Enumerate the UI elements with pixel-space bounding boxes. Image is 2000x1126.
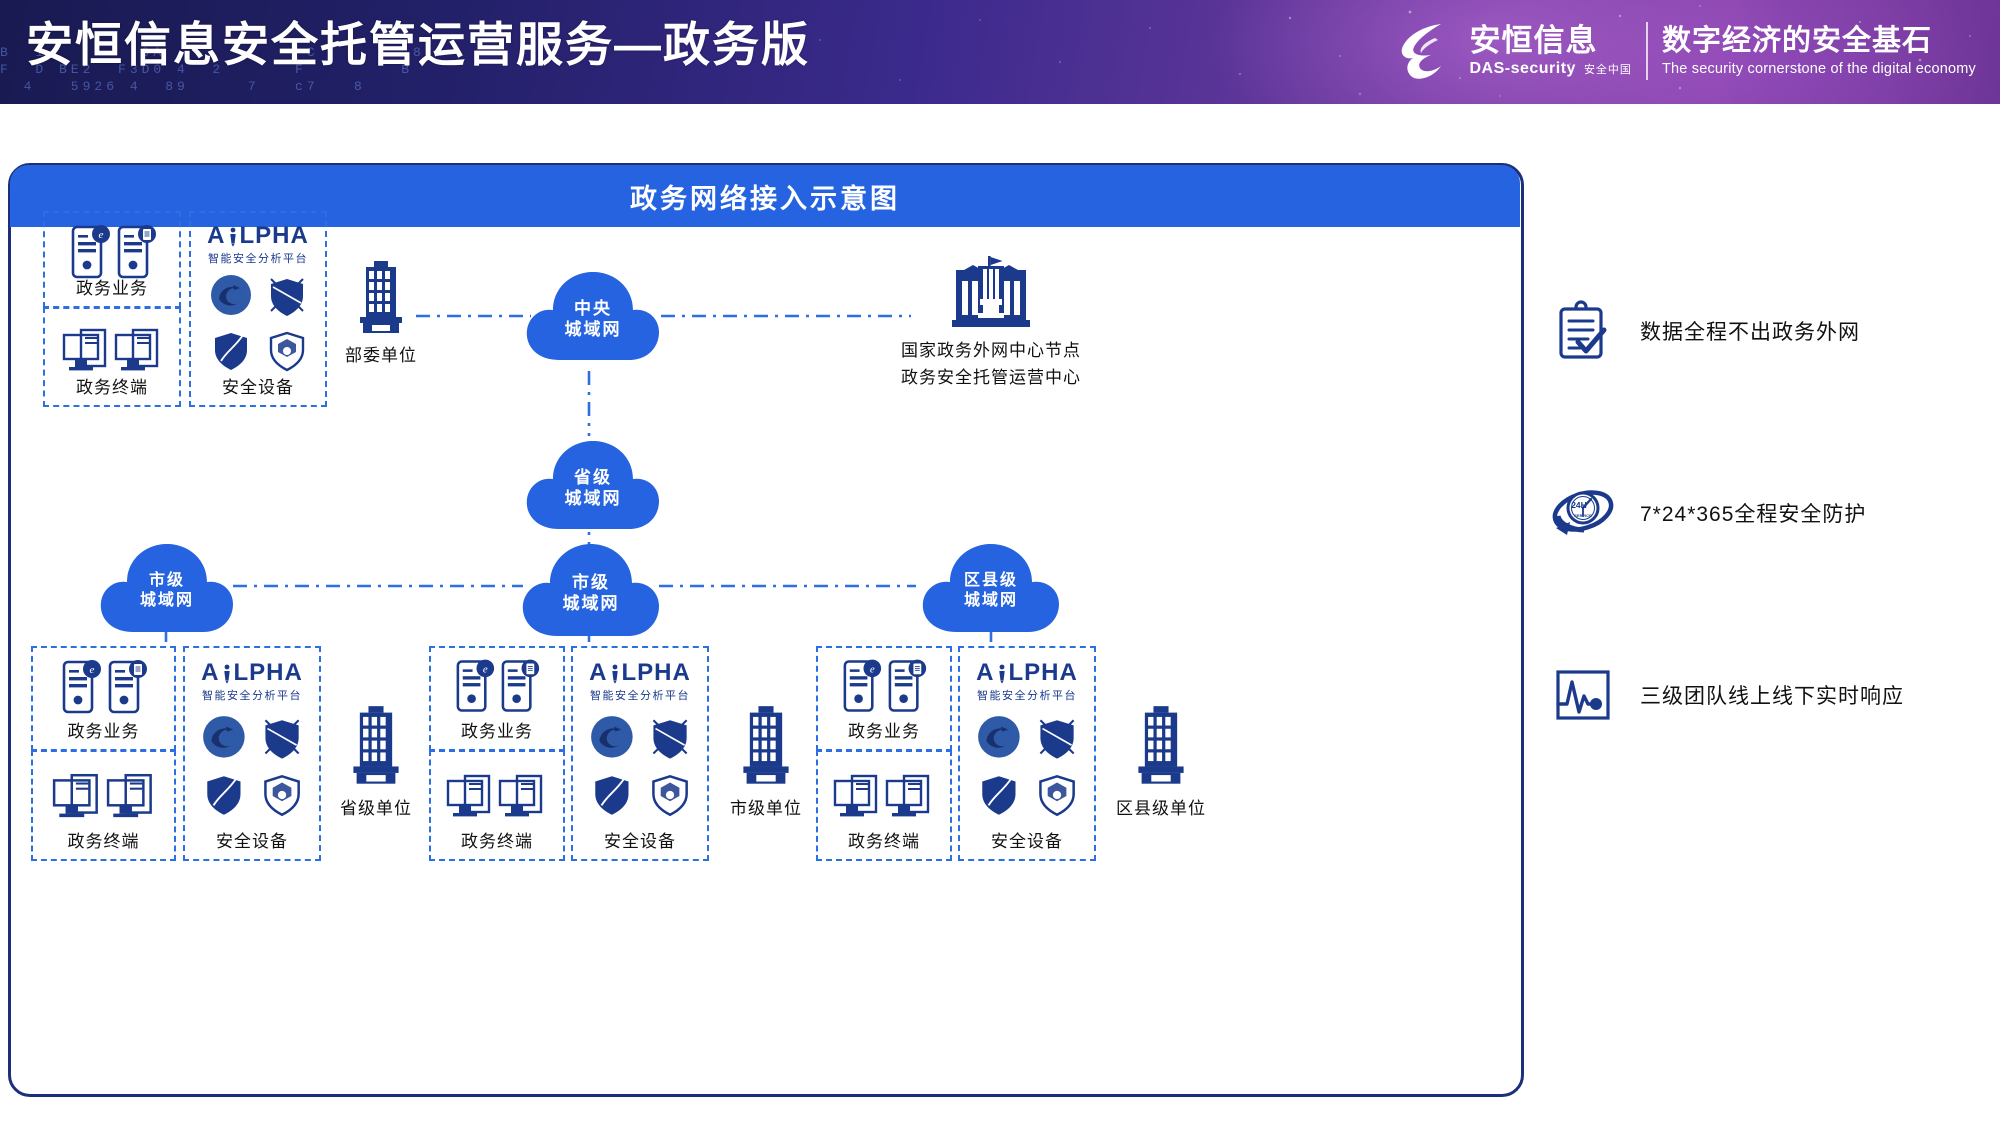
brand-slogan-cn: 数字经济的安全基石: [1662, 25, 1976, 57]
server-pair-icon: e: [67, 223, 163, 281]
desktop-pair-icon: [832, 772, 938, 822]
group-security-device-top: ALPHA 智能安全分析平台: [189, 211, 327, 407]
feature-list: 数据全程不出政务外网 24H SERVICE 7*24*365全程安全防护: [1552, 300, 1992, 846]
alpha-word-left: A: [589, 659, 607, 686]
feature-item-data-stays-in-network: 数据全程不出政务外网: [1552, 300, 1992, 362]
alpha-word-right: LPHA: [1009, 659, 1078, 686]
eagle-wave-icon: [211, 275, 251, 315]
group-label-security-device: 安全设备: [191, 373, 325, 398]
svg-text:e: e: [90, 664, 95, 676]
node-city-unit: 市级单位: [711, 706, 821, 786]
cloud-line2-district: 城域网: [919, 591, 1063, 611]
feature-label: 数据全程不出政务外网: [1640, 316, 1860, 346]
shield-network-icon: [1040, 776, 1073, 814]
alpha-word-right: LPHA: [240, 222, 309, 249]
group-business-c3: e 政务业务: [816, 646, 952, 751]
node-ministry: 部委单位: [341, 261, 421, 335]
security-icon-grid: [589, 714, 695, 822]
brand-cn-block: 安恒信息 DAS-security 安全中国: [1469, 24, 1631, 78]
security-icon-grid: [976, 714, 1082, 822]
svg-text:e: e: [99, 229, 104, 241]
group-label-security-device: 安全设备: [960, 827, 1094, 852]
group-terminal-c3: 政务终端: [816, 750, 952, 861]
server-pair-icon: e: [58, 656, 154, 718]
shield-network-icon: [653, 776, 686, 814]
server-pair-icon: e: [452, 656, 546, 716]
cloud-central: 中央 城域网: [523, 260, 663, 372]
alpha-wordmark: ALPHA: [185, 660, 319, 686]
group-terminal-c2: 政务终端: [429, 750, 565, 861]
heartbeat-monitor-icon: [1552, 664, 1614, 726]
office-building-icon: [1133, 706, 1189, 786]
group-business-top: e 政务业务: [43, 211, 181, 308]
group-label-business: 政务业务: [818, 717, 950, 742]
cloud-district: 区县级 城域网: [919, 532, 1063, 644]
alpha-word-left: A: [976, 659, 994, 686]
brand-lockup: 安恒信息 DAS-security 安全中国 数字经济的安全基石 The sec…: [1395, 14, 1976, 88]
node-label-provincial-unit: 省级单位: [321, 794, 431, 819]
feature-label: 7*24*365全程安全防护: [1640, 498, 1866, 528]
alpha-brand-block: ALPHA 智能安全分析平台: [185, 660, 319, 703]
shield-network-icon: [271, 333, 303, 370]
desktop-pair-icon: [445, 772, 551, 822]
security-icon-grid: [209, 273, 311, 377]
security-icon-grid: [201, 714, 307, 822]
shield-leaf-icon: [207, 776, 240, 814]
brand-company-en: DAS-security: [1469, 60, 1575, 78]
brand-slogan-en: The security cornerstone of the digital …: [1662, 61, 1976, 77]
group-label-business: 政务业务: [431, 717, 563, 742]
cloud-line1-city-left: 市级: [97, 571, 237, 591]
eagle-wave-icon: [591, 716, 633, 758]
alpha-word-right: LPHA: [622, 659, 691, 686]
office-building-icon: [738, 706, 794, 786]
cloud-line1-central: 中央: [523, 298, 663, 319]
cloud-label-provincial: 省级 城域网: [523, 461, 663, 510]
group-terminal-c1: 政务终端: [31, 750, 176, 861]
office-building-icon: [348, 706, 404, 786]
node-label-city-unit: 市级单位: [711, 794, 821, 819]
group-business-c1: e 政务业务: [31, 646, 176, 751]
government-hall-icon: [940, 256, 1042, 328]
alpha-subtitle: 智能安全分析平台: [185, 687, 319, 703]
brand-slogan-block: 数字经济的安全基石 The security cornerstone of th…: [1662, 25, 1976, 77]
cloud-line2-provincial: 城域网: [523, 488, 663, 509]
cloud-city-left: 市级 城域网: [97, 532, 237, 644]
desktop-pair-icon: [61, 327, 167, 375]
group-label-security-device: 安全设备: [185, 827, 319, 852]
alpha-wordmark: ALPHA: [960, 660, 1094, 686]
cloud-provincial: 省级 城域网: [523, 429, 663, 541]
clipboard-check-icon: [1552, 300, 1614, 362]
svg-text:e: e: [483, 663, 488, 675]
group-label-terminal: 政务终端: [45, 373, 179, 398]
server-pair-icon: e: [839, 656, 933, 716]
group-label-terminal: 政务终端: [818, 827, 950, 852]
group-business-c2: e 政务业务: [429, 646, 565, 751]
brand-company-cn: 安恒信息: [1469, 24, 1631, 58]
alpha-word-left: A: [207, 222, 225, 249]
cloud-line2-city-left: 城域网: [97, 591, 237, 611]
alpha-subtitle: 智能安全分析平台: [573, 687, 707, 703]
shield-swords-icon: [653, 720, 686, 758]
alpha-brand-block: ALPHA 智能安全分析平台: [573, 660, 707, 703]
feature-label: 三级团队线上线下实时响应: [1640, 680, 1904, 710]
das-swirl-logo-icon: [1395, 20, 1455, 82]
feature-item-24x7-protection: 24H SERVICE 7*24*365全程安全防护: [1552, 482, 1992, 544]
office-building-icon: [355, 261, 407, 335]
alpha-brand-block: ALPHA 智能安全分析平台: [960, 660, 1094, 703]
node-national-center: 国家政务外网中心节点 政务安全托管运营中心: [841, 256, 1141, 328]
cloud-line1-district: 区县级: [919, 571, 1063, 591]
desktop-pair-icon: [51, 772, 161, 822]
shield-leaf-icon: [215, 333, 247, 370]
shield-swords-icon: [271, 279, 303, 316]
eagle-wave-icon: [203, 716, 245, 758]
group-security-device-c3: ALPHA 智能安全分析平台: [958, 646, 1096, 861]
alpha-word-right: LPHA: [234, 659, 303, 686]
cloud-line1-provincial: 省级: [523, 467, 663, 488]
alpha-wordmark: ALPHA: [573, 660, 707, 686]
group-label-business: 政务业务: [45, 274, 179, 299]
group-terminal-top: 政务终端: [43, 307, 181, 407]
cloud-line2-city-center: 城域网: [519, 593, 663, 614]
shield-network-icon: [265, 776, 298, 814]
eagle-wave-icon: [978, 716, 1020, 758]
cloud-label-district: 区县级 城域网: [919, 565, 1063, 611]
group-label-terminal: 政务终端: [431, 827, 563, 852]
node-label-national-center-line2: 政务安全托管运营中心: [841, 363, 1141, 388]
alpha-subtitle: 智能安全分析平台: [191, 250, 325, 266]
group-security-device-c2: ALPHA 智能安全分析平台: [571, 646, 709, 861]
node-label-national-center-line1: 国家政务外网中心节点: [841, 336, 1141, 361]
group-label-security-device: 安全设备: [573, 827, 707, 852]
cloud-label-city-center: 市级 城域网: [519, 566, 663, 615]
page-title: 安恒信息安全托管运营服务—政务版: [26, 14, 810, 76]
cloud-line1-city-center: 市级: [519, 572, 663, 593]
feature-item-three-tier-response: 三级团队线上线下实时响应: [1552, 664, 1992, 726]
alpha-wordmark: ALPHA: [191, 223, 325, 249]
cloud-label-central: 中央 城域网: [523, 292, 663, 341]
node-label-district-unit: 区县级单位: [1096, 794, 1226, 819]
node-district-unit: 区县级单位: [1096, 706, 1226, 786]
group-label-business: 政务业务: [33, 717, 174, 742]
alpha-word-left: A: [201, 659, 219, 686]
24h-service-clock-icon: 24H SERVICE: [1552, 482, 1614, 544]
diagram-panel: 政务网络接入示意图: [8, 163, 1524, 1097]
group-security-device-c1: ALPHA 智能安全分析平台: [183, 646, 321, 861]
page-header: B 1 9A C 8 F D BE2 F3D0 4 2 F B 4 5926 4…: [0, 0, 2000, 104]
node-label-ministry: 部委单位: [341, 341, 421, 366]
alpha-brand-block: ALPHA 智能安全分析平台: [191, 223, 325, 266]
group-label-terminal: 政务终端: [33, 827, 174, 852]
cloud-line2-central: 城域网: [523, 319, 663, 340]
node-provincial-unit: 省级单位: [321, 706, 431, 786]
brand-company-en-cn: 安全中国: [1584, 61, 1632, 77]
cloud-label-city-left: 市级 城域网: [97, 565, 237, 611]
brand-divider: [1646, 22, 1648, 80]
shield-swords-icon: [265, 720, 298, 758]
shield-leaf-icon: [982, 776, 1015, 814]
svg-text:e: e: [870, 663, 875, 675]
shield-leaf-icon: [595, 776, 628, 814]
cloud-city-center: 市级 城域网: [519, 532, 663, 648]
shield-swords-icon: [1040, 720, 1073, 758]
alpha-subtitle: 智能安全分析平台: [960, 687, 1094, 703]
